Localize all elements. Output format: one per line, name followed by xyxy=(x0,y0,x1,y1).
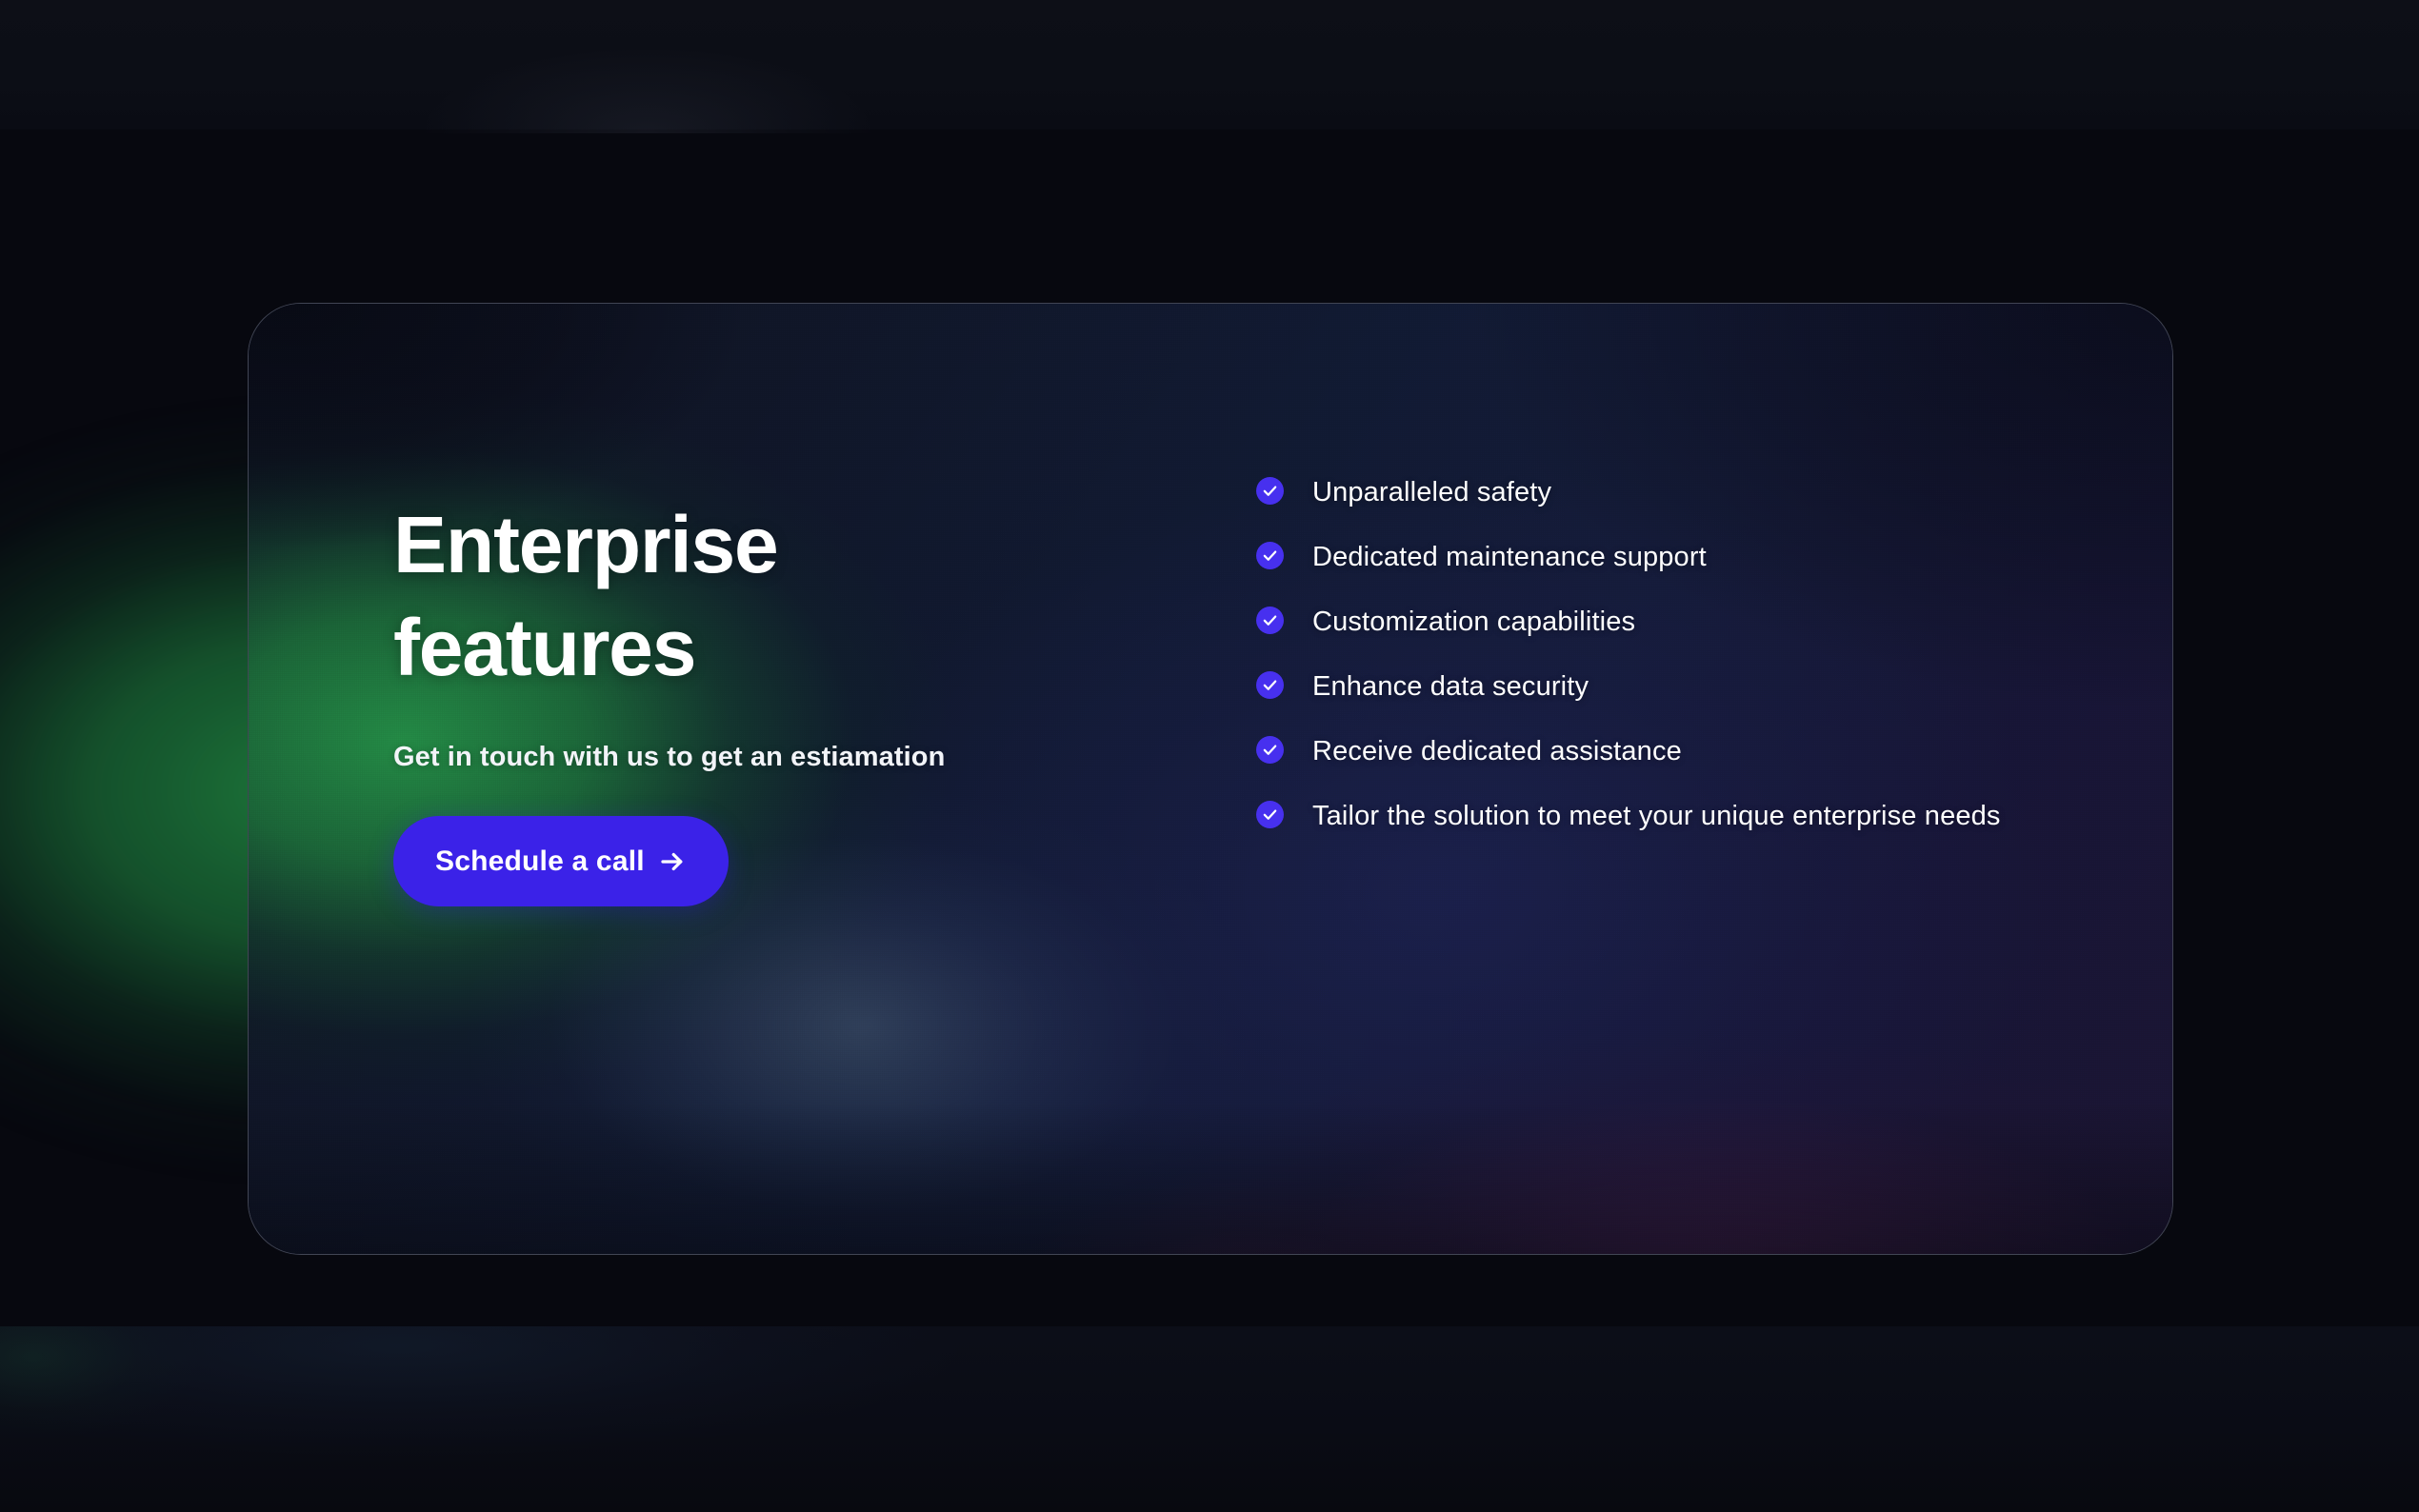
feature-list: Unparalleled safety Dedicated maintenanc… xyxy=(1256,472,2047,836)
background-bottom-green-glow xyxy=(0,1326,410,1479)
list-item: Unparalleled safety xyxy=(1256,472,2047,512)
check-circle-icon xyxy=(1256,542,1284,569)
check-circle-icon xyxy=(1256,801,1284,828)
list-item: Receive dedicated assistance xyxy=(1256,731,2047,771)
feature-label: Customization capabilities xyxy=(1312,602,1635,642)
feature-label: Tailor the solution to meet your unique … xyxy=(1312,796,2001,836)
check-circle-icon xyxy=(1256,477,1284,505)
card-content: Enterprise features Get in touch with us… xyxy=(249,304,2172,1254)
check-circle-icon xyxy=(1256,607,1284,634)
feature-label: Dedicated maintenance support xyxy=(1312,537,1707,577)
schedule-a-call-label: Schedule a call xyxy=(435,846,645,878)
feature-label: Receive dedicated assistance xyxy=(1312,731,1682,771)
list-item: Enhance data security xyxy=(1256,666,2047,706)
page-title-line-1: Enterprise xyxy=(393,494,1212,597)
schedule-a-call-button[interactable]: Schedule a call xyxy=(393,816,729,906)
feature-label: Enhance data security xyxy=(1312,666,1589,706)
page-root: Enterprise features Get in touch with us… xyxy=(0,0,2419,1512)
enterprise-features-card: Enterprise features Get in touch with us… xyxy=(248,303,2173,1255)
check-circle-icon xyxy=(1256,736,1284,764)
page-title-line-2: features xyxy=(393,597,1212,700)
background-top-glow xyxy=(343,0,952,133)
feature-label: Unparalleled safety xyxy=(1312,472,1551,512)
page-subtitle: Get in touch with us to get an estiamati… xyxy=(393,742,1212,773)
check-circle-icon xyxy=(1256,671,1284,699)
card-left-column: Enterprise features Get in touch with us… xyxy=(393,494,1212,906)
page-title: Enterprise features xyxy=(393,494,1212,699)
list-item: Tailor the solution to meet your unique … xyxy=(1256,796,2047,836)
arrow-right-icon xyxy=(658,847,687,876)
list-item: Customization capabilities xyxy=(1256,602,2047,642)
list-item: Dedicated maintenance support xyxy=(1256,537,2047,577)
